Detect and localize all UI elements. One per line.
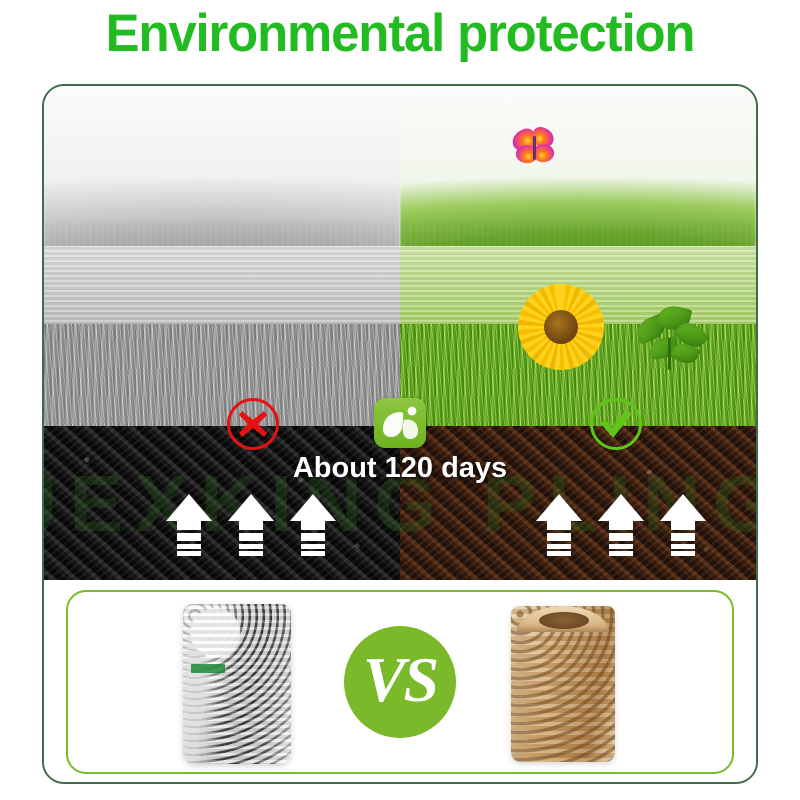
up-arrow-icon [228,494,274,556]
product-inner-frame: VS [66,590,734,774]
cross-icon [227,398,279,450]
up-arrow-icon [536,494,582,556]
plant-sprout-icon [632,304,708,370]
butterfly-body [533,136,536,160]
sunflower-icon [518,284,604,370]
kraft-honeycomb-paper-roll-image [511,606,615,762]
poster-root: Environmental protection [0,0,800,800]
check-icon [590,398,642,450]
eco-leaf-badge [374,398,426,448]
comparison-scene: JEXKING PLING [44,86,756,580]
sunflower-core [544,310,578,344]
up-arrow-icon [598,494,644,556]
product-kraft-honeycomb-paper [448,598,678,770]
up-arrow-icon [166,494,212,556]
up-arrow-icon [290,494,336,556]
arrows-group-left [166,494,336,556]
product-comparison-panel: VS [44,580,756,784]
grass-gray [44,324,400,428]
vs-label: VS [363,648,437,712]
field-gray [44,246,400,332]
content-card: JEXKING PLING [42,84,758,784]
hills-gray [44,178,400,256]
up-arrow-icon [660,494,706,556]
hills-green [400,178,756,256]
duration-caption: About 120 days [44,452,756,485]
stem-shape [668,338,671,370]
arrows-group-right [536,494,706,556]
butterfly-icon [510,128,560,168]
vs-badge: VS [344,626,456,738]
roll-hole [539,612,589,629]
product-plastic-bubble-wrap [122,598,352,770]
plastic-bubble-wrap-roll-image [183,604,291,764]
page-title: Environmental protection [16,2,784,66]
